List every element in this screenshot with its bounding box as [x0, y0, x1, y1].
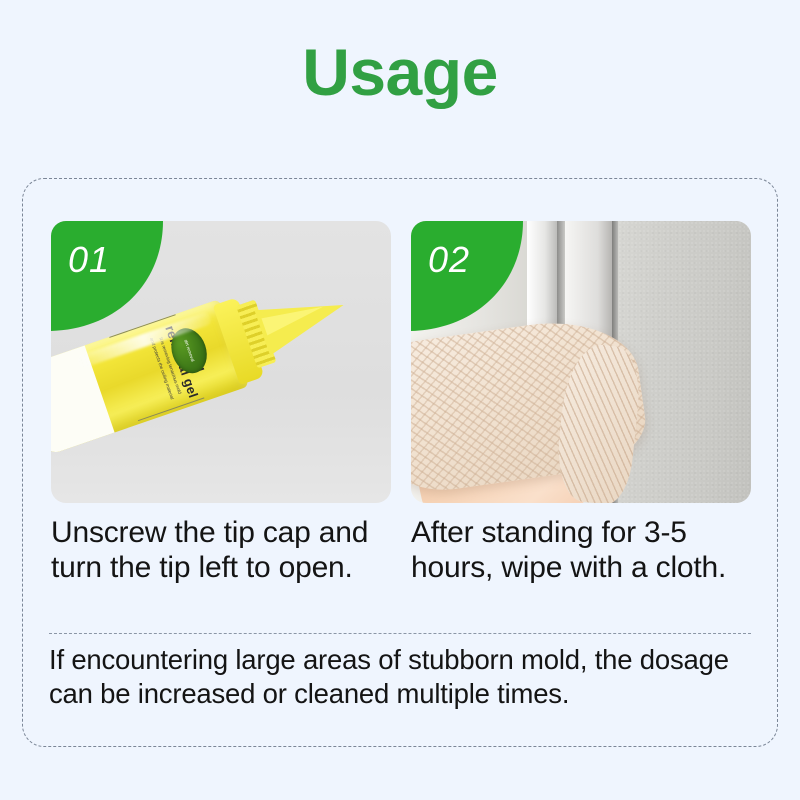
step-02-number: 02	[428, 239, 470, 281]
usage-note: If encountering large areas of stubborn …	[49, 643, 757, 710]
page-title: Usage	[0, 38, 800, 107]
step-02-caption: After standing for 3-5 hours, wipe with …	[411, 515, 751, 586]
step-02-photo: 02	[411, 221, 751, 503]
step-01-number: 01	[68, 239, 110, 281]
usage-panel: 01 kitchen Mold removal gel It is removi…	[22, 178, 778, 747]
step-01: 01 kitchen Mold removal gel It is removi…	[51, 221, 391, 586]
note-divider	[49, 633, 751, 634]
bottle-seal-text: dirt removal	[183, 339, 196, 363]
step-01-photo: 01 kitchen Mold removal gel It is removi…	[51, 221, 391, 503]
step-02: 02 After standing for 3-5 hours, wipe wi…	[411, 221, 751, 586]
step-01-caption: Unscrew the tip cap and turn the tip lef…	[51, 515, 391, 586]
steps-row: 01 kitchen Mold removal gel It is removi…	[51, 221, 751, 586]
textured-wall	[618, 221, 751, 503]
